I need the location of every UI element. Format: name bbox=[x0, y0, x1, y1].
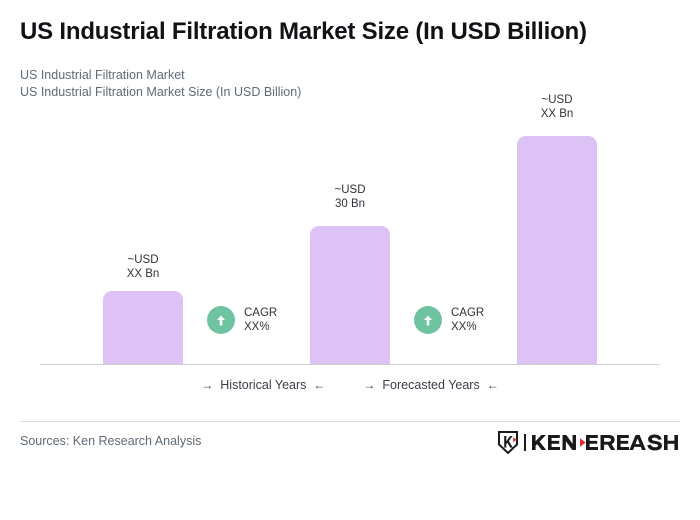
period-historical-label: Historical Years bbox=[220, 378, 306, 392]
bar-value-label-1: ~USD XX Bn bbox=[103, 253, 183, 281]
bar-value-label-2-line2: 30 Bn bbox=[310, 197, 390, 211]
x-axis-baseline bbox=[40, 364, 660, 365]
ken-research-shield-icon bbox=[498, 431, 518, 454]
arrow-up-icon bbox=[207, 306, 235, 334]
arrow-right-icon: → bbox=[201, 379, 213, 391]
arrow-up-icon bbox=[414, 306, 442, 334]
cagr-label-forecasted: CAGR XX% bbox=[451, 306, 484, 334]
cagr-annotation-historical: CAGR XX% bbox=[207, 306, 277, 334]
bar-value-label-3: ~USD XX Bn bbox=[517, 93, 597, 121]
arrow-right-icon: → bbox=[363, 379, 375, 391]
period-legend: → Historical Years ← → Forecasted Years … bbox=[40, 378, 660, 392]
sources-text: Sources: Ken Research Analysis bbox=[20, 434, 201, 448]
cagr-label-historical-line1: CAGR bbox=[244, 306, 277, 320]
chart-card: US Industrial Filtration Market Size (In… bbox=[0, 0, 700, 520]
cagr-label-forecasted-line2: XX% bbox=[451, 320, 484, 334]
bar-forecast[interactable] bbox=[517, 136, 597, 364]
period-forecasted: → Forecasted Years ← bbox=[363, 378, 498, 392]
bar-value-label-3-line2: XX Bn bbox=[517, 107, 597, 121]
bar-value-label-3-line1: ~USD bbox=[517, 93, 597, 107]
footer-divider bbox=[20, 421, 680, 422]
cagr-label-forecasted-line1: CAGR bbox=[451, 306, 484, 320]
bar-value-label-2: ~USD 30 Bn bbox=[310, 183, 390, 211]
ken-research-logo bbox=[498, 431, 680, 454]
bar-value-label-1-line1: ~USD bbox=[103, 253, 183, 267]
chart-plot-area: ~USD XX Bn ~USD 30 Bn ~USD XX Bn CAGR XX… bbox=[0, 0, 700, 400]
cagr-annotation-forecasted: CAGR XX% bbox=[414, 306, 484, 334]
cagr-label-historical-line2: XX% bbox=[244, 320, 277, 334]
logo-divider bbox=[524, 434, 526, 451]
bar-value-label-2-line1: ~USD bbox=[310, 183, 390, 197]
period-historical: → Historical Years ← bbox=[201, 378, 325, 392]
bar-historical[interactable] bbox=[103, 291, 183, 364]
cagr-label-historical: CAGR XX% bbox=[244, 306, 277, 334]
period-forecasted-label: Forecasted Years bbox=[382, 378, 479, 392]
ken-research-wordmark bbox=[532, 433, 680, 452]
bar-value-label-1-line2: XX Bn bbox=[103, 267, 183, 281]
arrow-left-icon: ← bbox=[313, 379, 325, 391]
arrow-left-icon: ← bbox=[487, 379, 499, 391]
bar-current[interactable] bbox=[310, 226, 390, 364]
